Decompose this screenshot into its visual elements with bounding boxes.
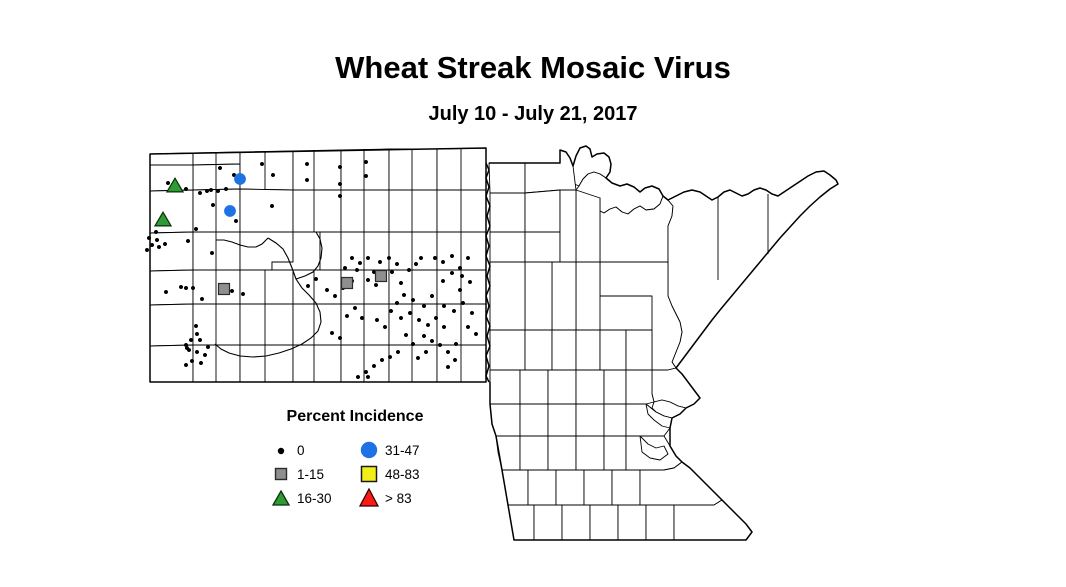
legend-item-3: 31-47 — [357, 438, 420, 462]
incidence-marker — [145, 248, 149, 252]
minnesota-counties — [489, 146, 838, 540]
incidence-marker — [333, 294, 337, 298]
incidence-marker — [474, 332, 478, 336]
incidence-marker — [389, 309, 393, 313]
legend-item-4: 48-83 — [357, 462, 420, 486]
incidence-marker — [366, 256, 370, 260]
incidence-marker — [305, 178, 309, 182]
legend-label: 31-47 — [385, 443, 420, 458]
incidence-marker — [422, 304, 426, 308]
incidence-marker — [195, 350, 199, 354]
incidence-marker — [430, 339, 434, 343]
incidence-marker — [338, 336, 342, 340]
incidence-marker — [452, 309, 456, 313]
legend-label: 1-15 — [297, 467, 324, 482]
incidence-marker — [417, 318, 421, 322]
green-triangle-icon — [269, 487, 293, 509]
legend-item-1: 1-15 — [269, 462, 324, 486]
incidence-marker — [376, 271, 387, 282]
incidence-marker — [441, 260, 445, 264]
incidence-marker — [235, 174, 246, 185]
legend-label: 48-83 — [385, 467, 420, 482]
incidence-marker — [342, 278, 353, 289]
incidence-marker — [411, 342, 415, 346]
incidence-marker — [350, 256, 354, 260]
incidence-marker — [190, 359, 194, 363]
incidence-marker — [422, 334, 426, 338]
incidence-marker — [305, 162, 309, 166]
red-triangle-icon — [357, 487, 381, 509]
incidence-marker — [330, 331, 334, 335]
legend: Percent Incidence 0 31-47 — [255, 408, 455, 508]
incidence-marker — [388, 355, 392, 359]
incidence-marker — [338, 182, 342, 186]
incidence-marker — [360, 316, 364, 320]
incidence-marker — [419, 256, 423, 260]
incidence-marker — [211, 203, 215, 207]
incidence-marker — [446, 350, 450, 354]
incidence-marker — [383, 325, 387, 329]
incidence-marker — [366, 375, 370, 379]
incidence-marker — [230, 289, 234, 293]
incidence-marker — [338, 165, 342, 169]
incidence-marker — [163, 242, 167, 246]
incidence-marker — [205, 189, 209, 193]
incidence-marker — [198, 338, 202, 342]
incidence-marker — [466, 325, 470, 329]
incidence-marker — [358, 261, 362, 265]
incidence-marker — [191, 286, 195, 290]
incidence-marker — [200, 297, 204, 301]
incidence-marker — [390, 270, 394, 274]
incidence-marker — [147, 236, 151, 240]
legend-item-5: > 83 — [357, 486, 412, 510]
incidence-marker — [446, 365, 450, 369]
map-figure: Wheat Streak Mosaic Virus July 10 - July… — [0, 0, 1066, 587]
incidence-marker — [194, 227, 198, 231]
incidence-marker — [442, 304, 446, 308]
incidence-marker — [453, 358, 457, 362]
incidence-marker — [186, 239, 190, 243]
incidence-marker — [150, 243, 154, 247]
incidence-marker — [461, 301, 465, 305]
incidence-marker — [372, 364, 376, 368]
incidence-marker — [206, 345, 210, 349]
incidence-marker — [343, 266, 347, 270]
incidence-marker — [154, 230, 158, 234]
map-canvas — [0, 0, 1066, 587]
incidence-marker — [366, 278, 370, 282]
legend-title: Percent Incidence — [255, 408, 455, 426]
incidence-marker — [375, 318, 379, 322]
incidence-marker — [203, 353, 207, 357]
legend-label: > 83 — [385, 491, 412, 506]
incidence-marker — [271, 173, 275, 177]
incidence-marker — [414, 262, 418, 266]
incidence-marker — [209, 188, 213, 192]
incidence-marker — [395, 262, 399, 266]
incidence-marker — [194, 324, 198, 328]
legend-item-2: 16-30 — [269, 486, 332, 510]
incidence-marker — [234, 219, 238, 223]
incidence-marker — [364, 160, 368, 164]
legend-item-0: 0 — [269, 438, 305, 462]
incidence-marker — [338, 194, 342, 198]
incidence-marker — [442, 325, 446, 329]
incidence-marker — [450, 254, 454, 258]
incidence-marker — [399, 316, 403, 320]
incidence-marker — [184, 363, 188, 367]
incidence-marker — [395, 301, 399, 305]
incidence-marker — [402, 293, 406, 297]
yellow-square-icon — [357, 463, 381, 485]
incidence-marker — [270, 204, 274, 208]
incidence-marker — [396, 350, 400, 354]
incidence-marker — [434, 316, 438, 320]
incidence-marker — [364, 370, 368, 374]
incidence-marker — [260, 162, 264, 166]
incidence-marker — [216, 189, 220, 193]
incidence-marker — [314, 277, 318, 281]
incidence-marker — [466, 256, 470, 260]
gray-square-icon — [269, 463, 293, 485]
legend-row: 0 31-47 — [255, 438, 455, 462]
legend-row: 1-15 48-83 — [255, 462, 455, 486]
incidence-marker — [470, 311, 474, 315]
blue-circle-icon — [357, 439, 381, 461]
incidence-marker — [378, 260, 382, 264]
incidence-marker — [224, 187, 228, 191]
incidence-marker — [399, 281, 403, 285]
incidence-marker — [184, 187, 188, 191]
incidence-marker — [411, 298, 415, 302]
incidence-marker — [450, 271, 454, 275]
incidence-marker — [218, 166, 222, 170]
map-svg — [0, 0, 1066, 587]
legend-label: 16-30 — [297, 491, 332, 506]
incidence-marker — [353, 306, 357, 310]
small-dot-icon — [269, 439, 293, 461]
incidence-marker — [179, 285, 183, 289]
incidence-marker — [374, 283, 378, 287]
incidence-marker — [195, 332, 199, 336]
incidence-marker — [185, 346, 189, 350]
incidence-marker — [426, 323, 430, 327]
incidence-marker — [356, 375, 360, 379]
incidence-marker — [454, 342, 458, 346]
incidence-marker — [164, 290, 168, 294]
incidence-marker — [468, 280, 472, 284]
incidence-marker — [433, 256, 437, 260]
incidence-marker — [430, 294, 434, 298]
incidence-marker — [184, 286, 188, 290]
incidence-marker — [460, 274, 464, 278]
incidence-marker — [157, 245, 161, 249]
legend-label: 0 — [297, 443, 305, 458]
incidence-marker — [387, 256, 391, 260]
incidence-marker — [345, 314, 349, 318]
incidence-marker — [210, 251, 214, 255]
incidence-marker — [407, 268, 411, 272]
incidence-marker — [219, 284, 230, 295]
incidence-marker — [155, 238, 159, 242]
incidence-marker — [166, 181, 170, 185]
legend-entries: 0 31-47 1-15 — [255, 438, 455, 510]
incidence-marker — [364, 174, 368, 178]
incidence-marker — [458, 288, 462, 292]
incidence-marker — [441, 279, 445, 283]
incidence-marker — [408, 311, 412, 315]
incidence-marker — [199, 361, 203, 365]
incidence-marker — [241, 292, 245, 296]
incidence-marker — [225, 206, 236, 217]
incidence-marker — [355, 268, 359, 272]
incidence-marker — [198, 191, 202, 195]
incidence-marker — [424, 350, 428, 354]
incidence-marker — [306, 284, 310, 288]
incidence-marker — [404, 333, 408, 337]
incidence-marker — [458, 266, 462, 270]
incidence-marker — [189, 338, 193, 342]
incidence-marker — [325, 288, 329, 292]
incidence-marker — [380, 358, 384, 362]
incidence-marker — [416, 356, 420, 360]
legend-row: 16-30 > 83 — [255, 486, 455, 510]
incidence-marker — [438, 343, 442, 347]
